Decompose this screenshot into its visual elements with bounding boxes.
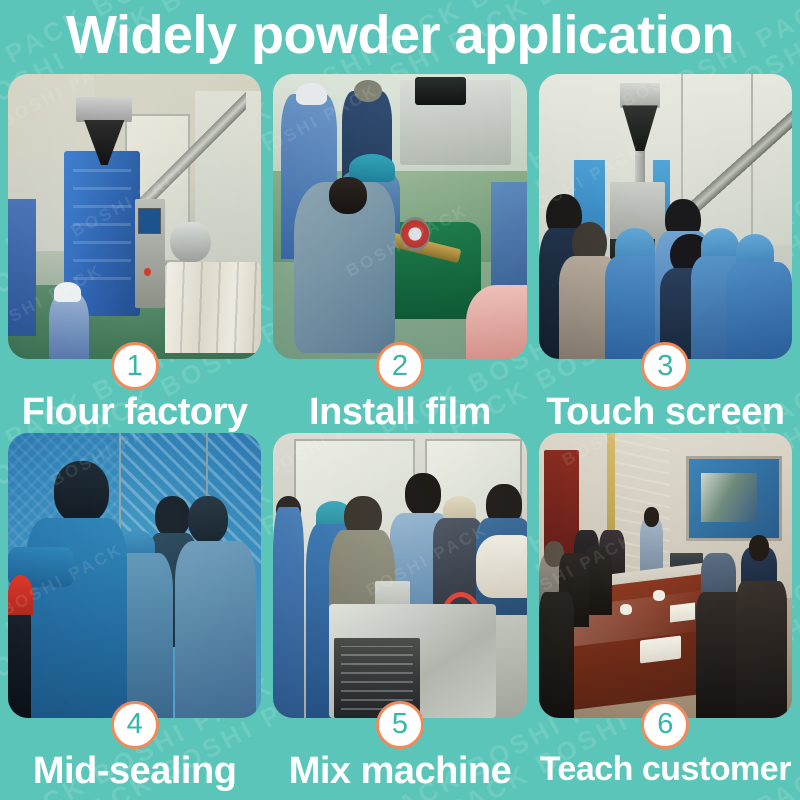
step-label-4: Mid-sealing (8, 752, 261, 792)
step-photo-3: BOSHI PACK BOSHI PACK (539, 74, 792, 359)
photo-watermark-3: BOSHI PACK BOSHI PACK (539, 74, 792, 359)
step-badge-4: 4 (111, 701, 159, 749)
application-grid: BOSHI PACK BOSHI PACK BOSHI PACK 1 Flour… (0, 74, 800, 792)
step-label-1: Flour factory (8, 393, 261, 433)
step-badge-1: 1 (111, 342, 159, 390)
step-photo-5: BOSHI PACK BOSHI PACK (273, 433, 526, 718)
step-card-1[interactable]: BOSHI PACK BOSHI PACK BOSHI PACK 1 Flour… (8, 74, 261, 433)
photo-watermark-2: BOSHI PACK BOSHI PACK (273, 74, 526, 359)
step-badge-3: 3 (641, 342, 689, 390)
step-photo-6: BOSHI PACK BOSHI PACK (539, 433, 792, 718)
step-card-6[interactable]: BOSHI PACK BOSHI PACK 6 Teach customer (539, 433, 792, 792)
step-card-2[interactable]: BOSHI PACK BOSHI PACK 2 Install film (273, 74, 526, 433)
step-photo-2: BOSHI PACK BOSHI PACK (273, 74, 526, 359)
step-photo-1: BOSHI PACK BOSHI PACK BOSHI PACK (8, 74, 261, 359)
step-badge-2: 2 (376, 342, 424, 390)
step-badge-5: 5 (376, 701, 424, 749)
step-label-2: Install film (273, 393, 526, 433)
photo-watermark-4: BOSHI PACK BOSHI PACK (8, 433, 261, 718)
step-label-5: Mix machine (273, 752, 526, 792)
step-label-3: Touch screen (539, 393, 792, 433)
photo-watermark-5: BOSHI PACK BOSHI PACK (273, 433, 526, 718)
step-badge-6: 6 (641, 701, 689, 749)
photo-watermark-1: BOSHI PACK BOSHI PACK BOSHI PACK (8, 74, 261, 359)
step-card-5[interactable]: BOSHI PACK BOSHI PACK 5 Mix machine (273, 433, 526, 792)
step-card-3[interactable]: BOSHI PACK BOSHI PACK 3 Touch screen (539, 74, 792, 433)
step-card-4[interactable]: BOSHI PACK BOSHI PACK 4 Mid-sealing (8, 433, 261, 792)
page-title: Widely powder application (0, 0, 800, 74)
step-label-6: Teach customer (539, 752, 792, 788)
step-photo-4: BOSHI PACK BOSHI PACK (8, 433, 261, 718)
photo-watermark-6: BOSHI PACK BOSHI PACK (539, 433, 792, 718)
